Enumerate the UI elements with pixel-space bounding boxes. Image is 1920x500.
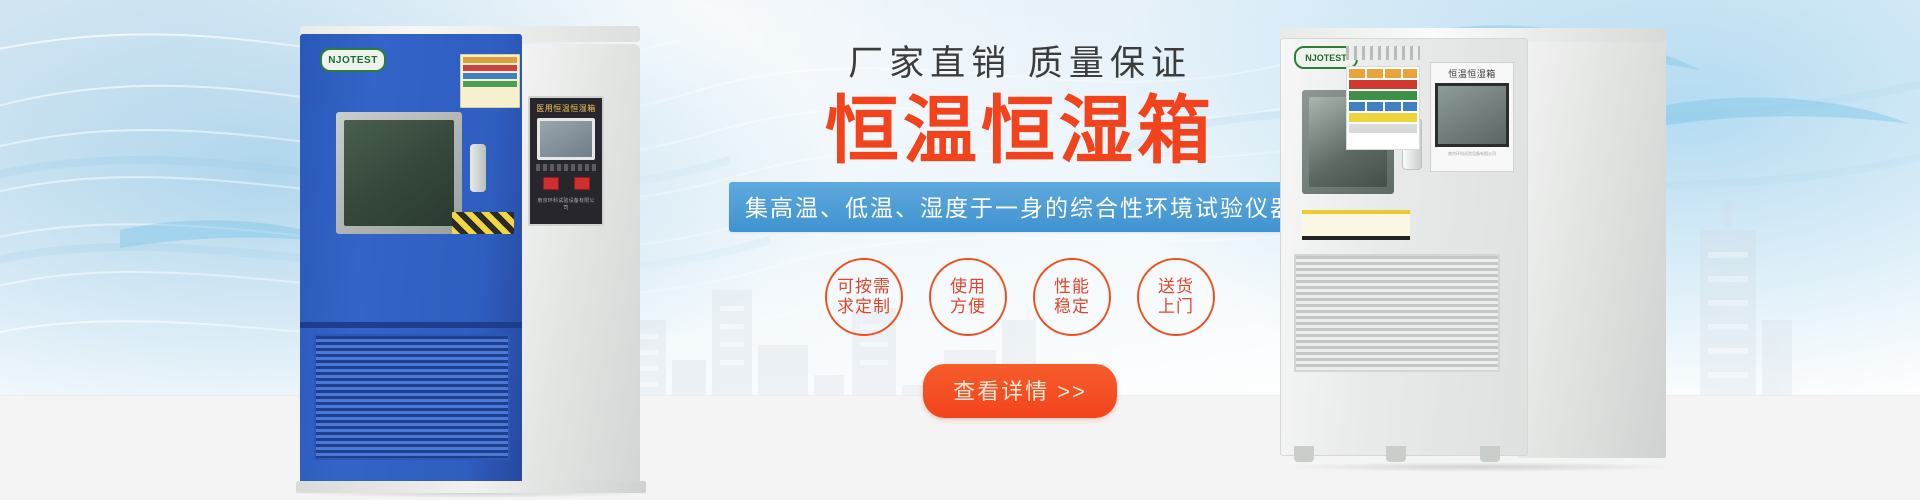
feature-1-line-1: 可按需 (837, 277, 891, 298)
feature-2-line-1: 使用 (950, 277, 986, 298)
right-unit-vent-grille (1294, 254, 1500, 372)
feature-3-line-2: 稳定 (1054, 297, 1090, 318)
banner-tagline: 厂家直销 质量保证 (700, 46, 1340, 81)
left-unit-door-window (336, 112, 462, 234)
product-image-left: NJOTEST 医用恒温恒湿箱 南京环科试验设备有限公司 (300, 26, 680, 491)
left-panel-footer: 南京环科试验设备有限公司 (535, 197, 597, 211)
feature-1-line-2: 求定制 (837, 297, 891, 318)
right-unit-top-vent (1346, 46, 1420, 60)
left-unit-warning-label (460, 54, 520, 108)
feature-circle-3[interactable]: 性能 稳定 (1033, 258, 1111, 336)
product-image-right: NJOTEST 恒温恒湿箱 南京环科试验设备有限公司 (1280, 10, 1700, 490)
left-unit-control-panel: 医用恒温恒湿箱 南京环科试验设备有限公司 (528, 96, 604, 226)
left-unit-hazard-stripe (452, 212, 514, 234)
right-unit-shadow (1280, 462, 1680, 472)
right-unit-control-panel: 恒温恒湿箱 南京环科试验设备有限公司 (1430, 62, 1514, 172)
left-panel-title: 医用恒温恒湿箱 (535, 103, 597, 114)
right-panel-footer: 南京环科试验设备有限公司 (1435, 151, 1509, 157)
left-panel-indicators (535, 177, 597, 190)
feature-circle-2[interactable]: 使用 方便 (929, 258, 1007, 336)
feature-2-line-2: 方便 (950, 297, 986, 318)
left-panel-screen (537, 118, 595, 160)
hero-banner: NJOTEST 医用恒温恒湿箱 南京环科试验设备有限公司 厂家直销 质量保证 恒… (0, 0, 1920, 500)
feature-3-line-1: 性能 (1054, 277, 1090, 298)
view-details-button[interactable]: 查看详情 >> (923, 364, 1117, 418)
left-unit-vent-grille (314, 334, 510, 460)
left-unit-glass (344, 120, 454, 226)
right-unit-warning-labels (1346, 66, 1420, 150)
right-panel-title: 恒温恒湿箱 (1435, 67, 1509, 80)
right-unit-legs (1294, 446, 1514, 462)
left-unit-door-handle (470, 144, 486, 192)
feature-circle-4[interactable]: 送货 上门 (1137, 258, 1215, 336)
left-panel-keypad (536, 164, 596, 171)
feature-circle-1[interactable]: 可按需 求定制 (825, 258, 903, 336)
feature-circle-list: 可按需 求定制 使用 方便 性能 稳定 送货 上门 (700, 258, 1340, 336)
right-panel-screen (1435, 83, 1509, 147)
cta-container: 查看详情 >> (700, 364, 1340, 418)
feature-4-line-2: 上门 (1158, 297, 1194, 318)
banner-copy: 厂家直销 质量保证 恒温恒湿箱 集高温、低温、湿度于一身的综合性环境试验仪器 可… (700, 46, 1340, 418)
brand-badge-left: NJOTEST (320, 48, 386, 72)
left-unit-seam (300, 322, 522, 328)
right-unit-hazard-label (1302, 210, 1410, 240)
left-unit-base (296, 481, 646, 493)
banner-headline: 恒温恒湿箱 (700, 93, 1340, 168)
right-unit-side (1518, 28, 1666, 458)
banner-subtitle: 集高温、低温、湿度于一身的综合性环境试验仪器 (729, 182, 1311, 232)
feature-4-line-1: 送货 (1158, 277, 1194, 298)
